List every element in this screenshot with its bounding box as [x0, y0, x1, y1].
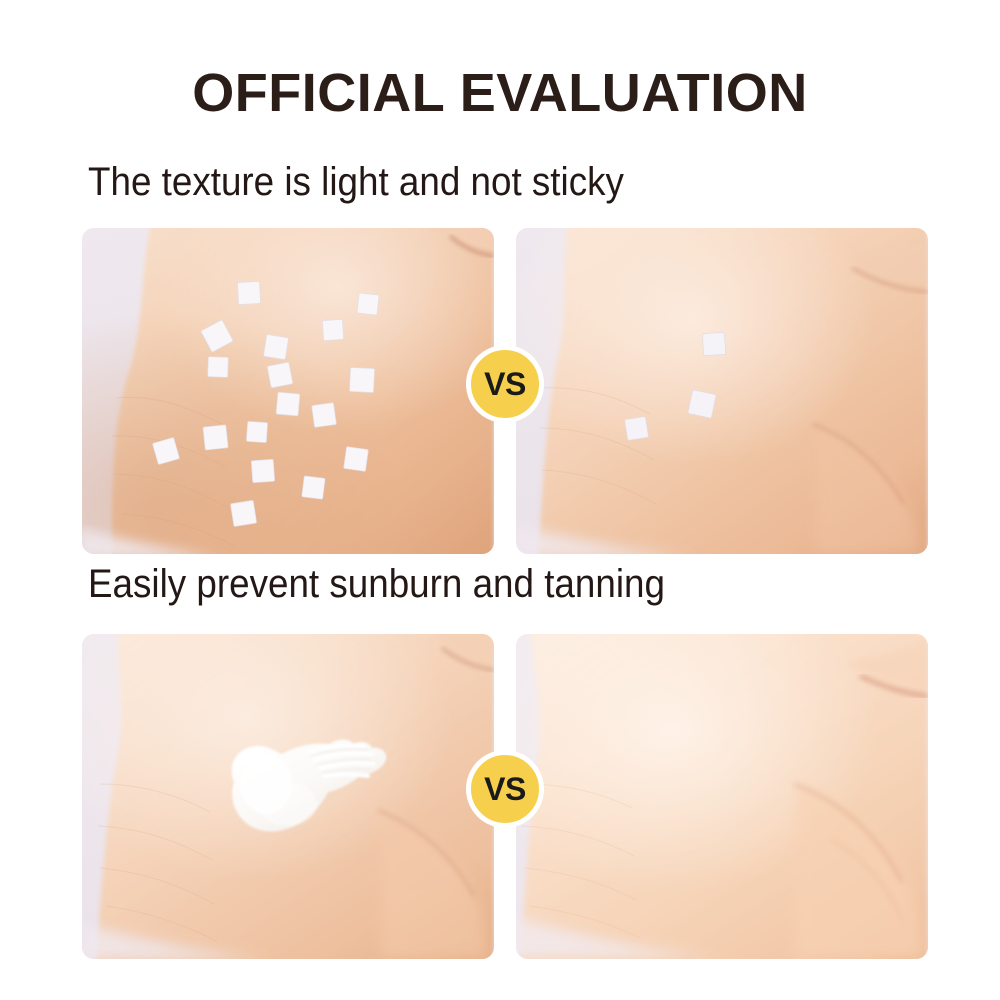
- panel-sunburn-after: [516, 634, 928, 959]
- vs-badge-sunburn: VS: [466, 750, 544, 828]
- hand-with-cream-swatch-image: [82, 634, 494, 959]
- page-title: OFFICIAL EVALUATION: [0, 62, 1000, 124]
- bare-hand-skin-image: [516, 634, 928, 959]
- panel-texture-after: [516, 228, 928, 554]
- section-heading-sunburn: Easily prevent sunburn and tanning: [88, 560, 665, 608]
- panel-texture-before: [82, 228, 494, 554]
- evaluation-page: OFFICIAL EVALUATION The texture is light…: [0, 0, 1000, 1000]
- hand-with-many-squares-image: [82, 228, 494, 554]
- panel-sunburn-before: [82, 634, 494, 959]
- vs-badge-texture: VS: [466, 345, 544, 423]
- section-heading-texture: The texture is light and not sticky: [88, 158, 624, 206]
- hand-with-few-squares-image: [516, 228, 928, 554]
